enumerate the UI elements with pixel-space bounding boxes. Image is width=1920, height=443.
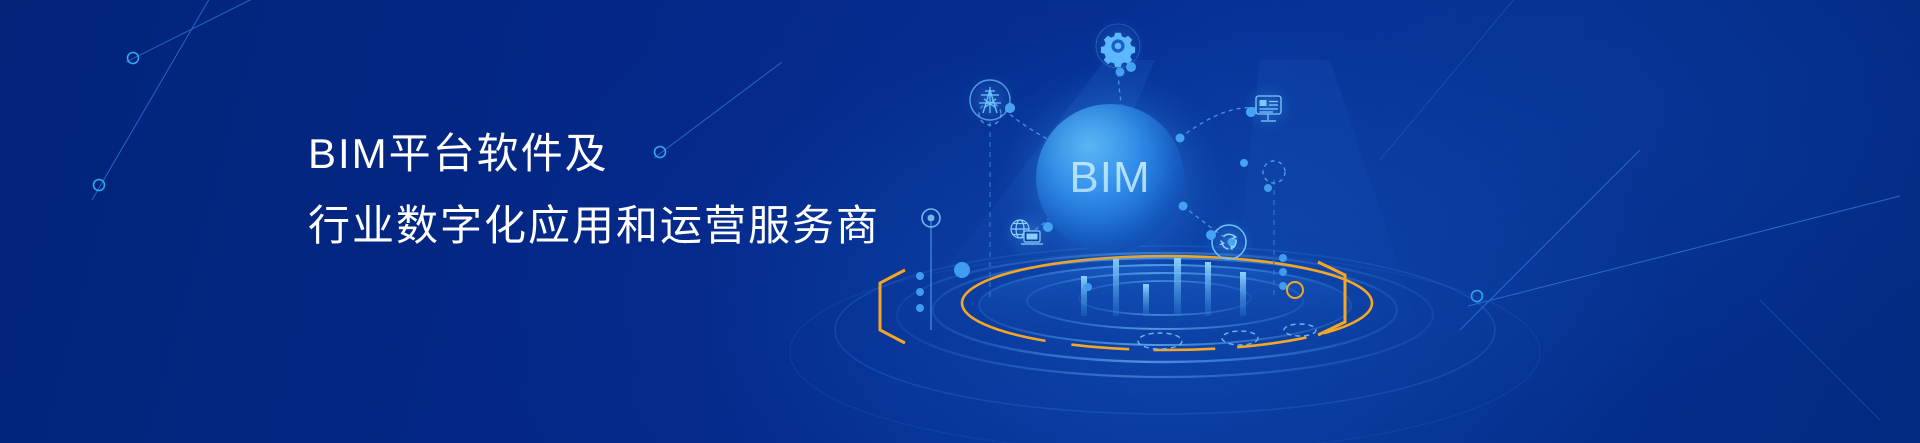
bim-illustration bbox=[0, 0, 1920, 443]
node-monitor bbox=[1240, 79, 1296, 135]
gear-icon bbox=[1101, 33, 1135, 67]
node-recycle-gear bbox=[1201, 214, 1257, 270]
node-gear bbox=[1088, 16, 1148, 76]
bim-sphere-label: BIM bbox=[1036, 104, 1184, 252]
radar-disc bbox=[790, 246, 1540, 443]
hero-banner: BIM平台软件及 行业数字化应用和运营服务商 bbox=[0, 0, 1920, 443]
node-power-tower bbox=[962, 72, 1018, 128]
